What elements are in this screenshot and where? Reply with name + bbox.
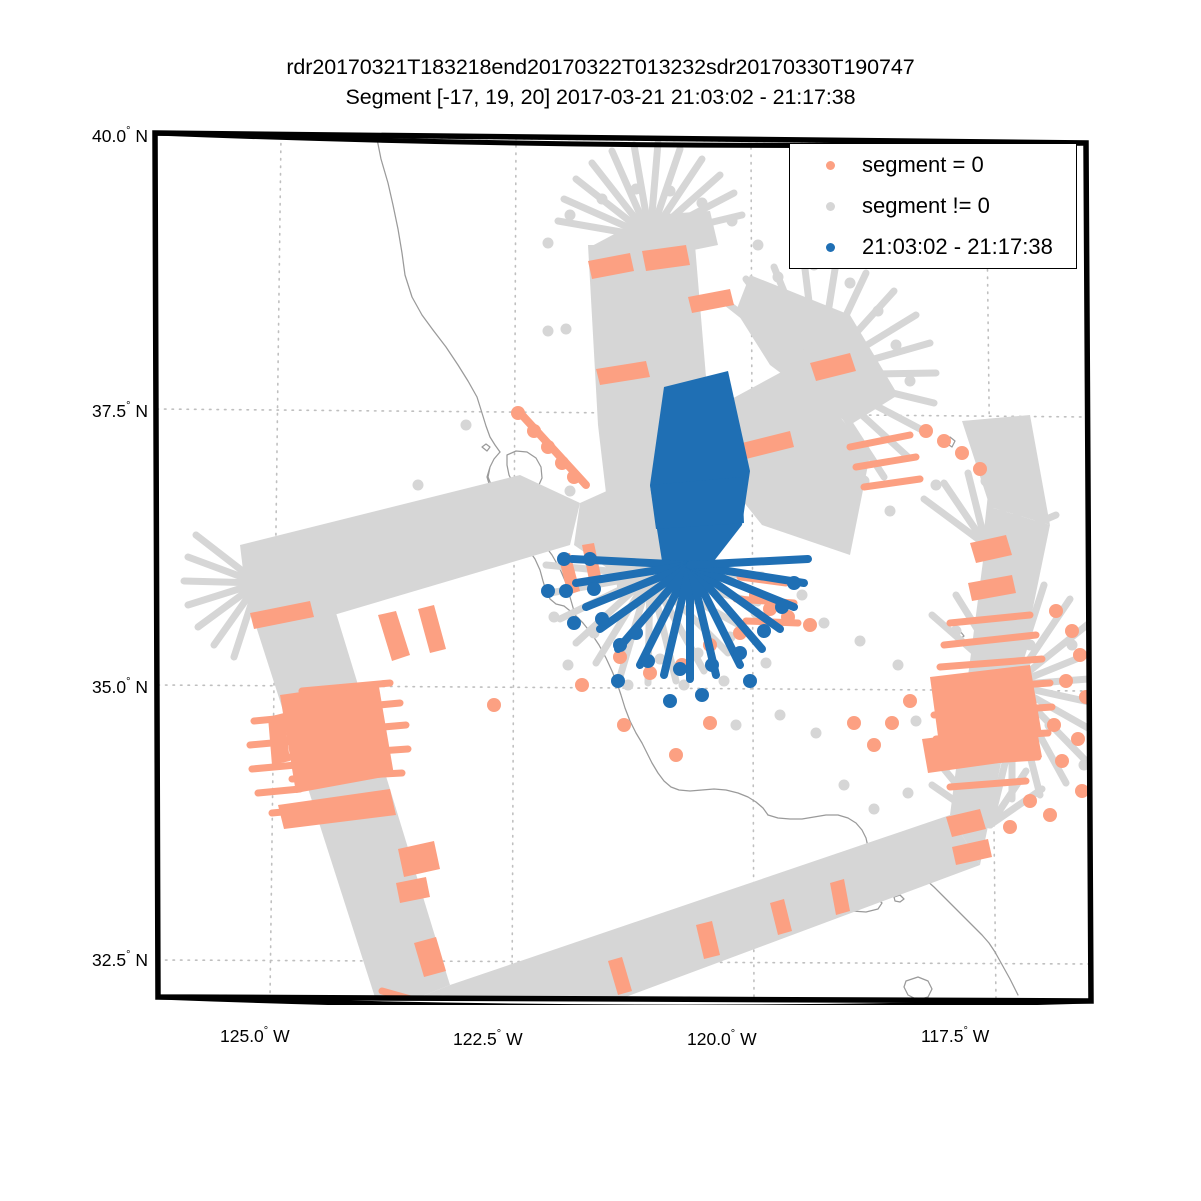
legend-marker-segment-nonzero [826, 202, 835, 211]
ytick-label-2: 35.0° N [58, 677, 148, 698]
xtick-label-2: 120.0° W [687, 1029, 757, 1050]
legend-entry-segment-nonzero[interactable]: segment != 0 [790, 185, 1076, 227]
ytick-label-3: 32.5° N [58, 950, 148, 971]
legend-label-segment-zero: segment = 0 [862, 152, 984, 178]
legend-marker-segment-zero [826, 161, 835, 170]
legend-label-highlight: 21:03:02 - 21:17:38 [862, 234, 1053, 260]
ytick-label-0: 40.0° N [58, 126, 148, 147]
legend-label-segment-nonzero: segment != 0 [862, 193, 990, 219]
legend-marker-highlight [826, 243, 835, 252]
chart-legend[interactable]: segment = 0 segment != 0 21:03:02 - 21:1… [789, 143, 1077, 269]
legend-entry-segment-zero[interactable]: segment = 0 [790, 144, 1076, 186]
ytick-label-1: 37.5° N [58, 401, 148, 422]
title-line-2: Segment [-17, 19, 20] 2017-03-21 21:03:0… [0, 82, 1201, 112]
chart-title: rdr20170321T183218end20170322T013232sdr2… [0, 52, 1201, 112]
figure-canvas: rdr20170321T183218end20170322T013232sdr2… [0, 0, 1201, 1201]
title-line-1: rdr20170321T183218end20170322T013232sdr2… [0, 52, 1201, 82]
xtick-label-0: 125.0° W [220, 1026, 290, 1047]
xtick-label-1: 122.5° W [453, 1029, 523, 1050]
legend-entry-highlight[interactable]: 21:03:02 - 21:17:38 [790, 226, 1076, 268]
xtick-label-3: 117.5° W [921, 1026, 989, 1047]
